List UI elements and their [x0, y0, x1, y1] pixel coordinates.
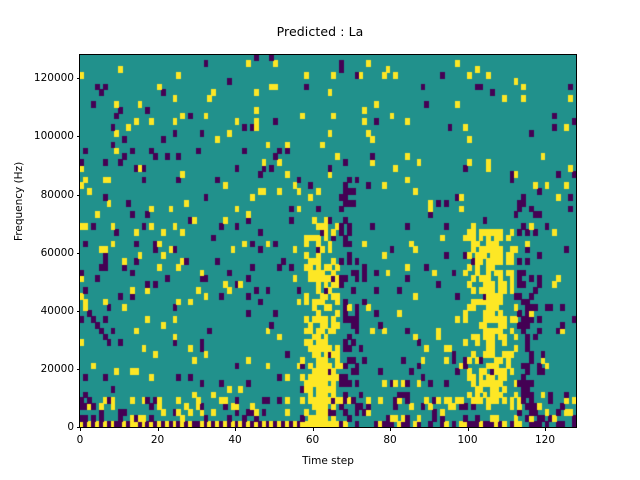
x-tick-mark — [313, 427, 314, 431]
y-tick-label: 100000 — [34, 130, 74, 142]
y-tick-label: 60000 — [41, 247, 74, 259]
y-tick-mark — [77, 136, 81, 137]
x-axis-label: Time step — [80, 455, 576, 467]
x-tick-label: 120 — [535, 434, 555, 446]
matplotlib-figure: Predicted : La Frequency (Hz) 0200004000… — [0, 0, 640, 480]
spectrogram-heatmap — [80, 55, 576, 427]
x-tick-mark — [390, 427, 391, 431]
x-tick-mark — [545, 427, 546, 431]
y-tick-mark — [77, 253, 81, 254]
y-tick-label: 80000 — [41, 189, 74, 201]
y-tick-mark — [77, 369, 81, 370]
y-tick-label: 20000 — [41, 363, 74, 375]
x-tick-mark — [80, 427, 81, 431]
x-tick-mark — [468, 427, 469, 431]
y-axis-label: Frequency (Hz) — [13, 162, 25, 241]
x-tick-label: 100 — [457, 434, 477, 446]
y-tick-mark — [77, 195, 81, 196]
x-tick-label: 40 — [228, 434, 241, 446]
page-title: Predicted : La — [0, 24, 640, 39]
y-tick-mark — [77, 78, 81, 79]
x-tick-label: 80 — [383, 434, 396, 446]
x-tick-label: 0 — [77, 434, 84, 446]
heatmap-axes — [79, 54, 577, 428]
y-tick-mark — [77, 311, 81, 312]
y-tick-label: 0 — [67, 421, 74, 433]
y-tick-label: 40000 — [41, 305, 74, 317]
y-tick-label: 120000 — [34, 72, 74, 84]
x-tick-mark — [235, 427, 236, 431]
x-tick-label: 20 — [151, 434, 164, 446]
x-tick-label: 60 — [306, 434, 319, 446]
x-tick-mark — [158, 427, 159, 431]
